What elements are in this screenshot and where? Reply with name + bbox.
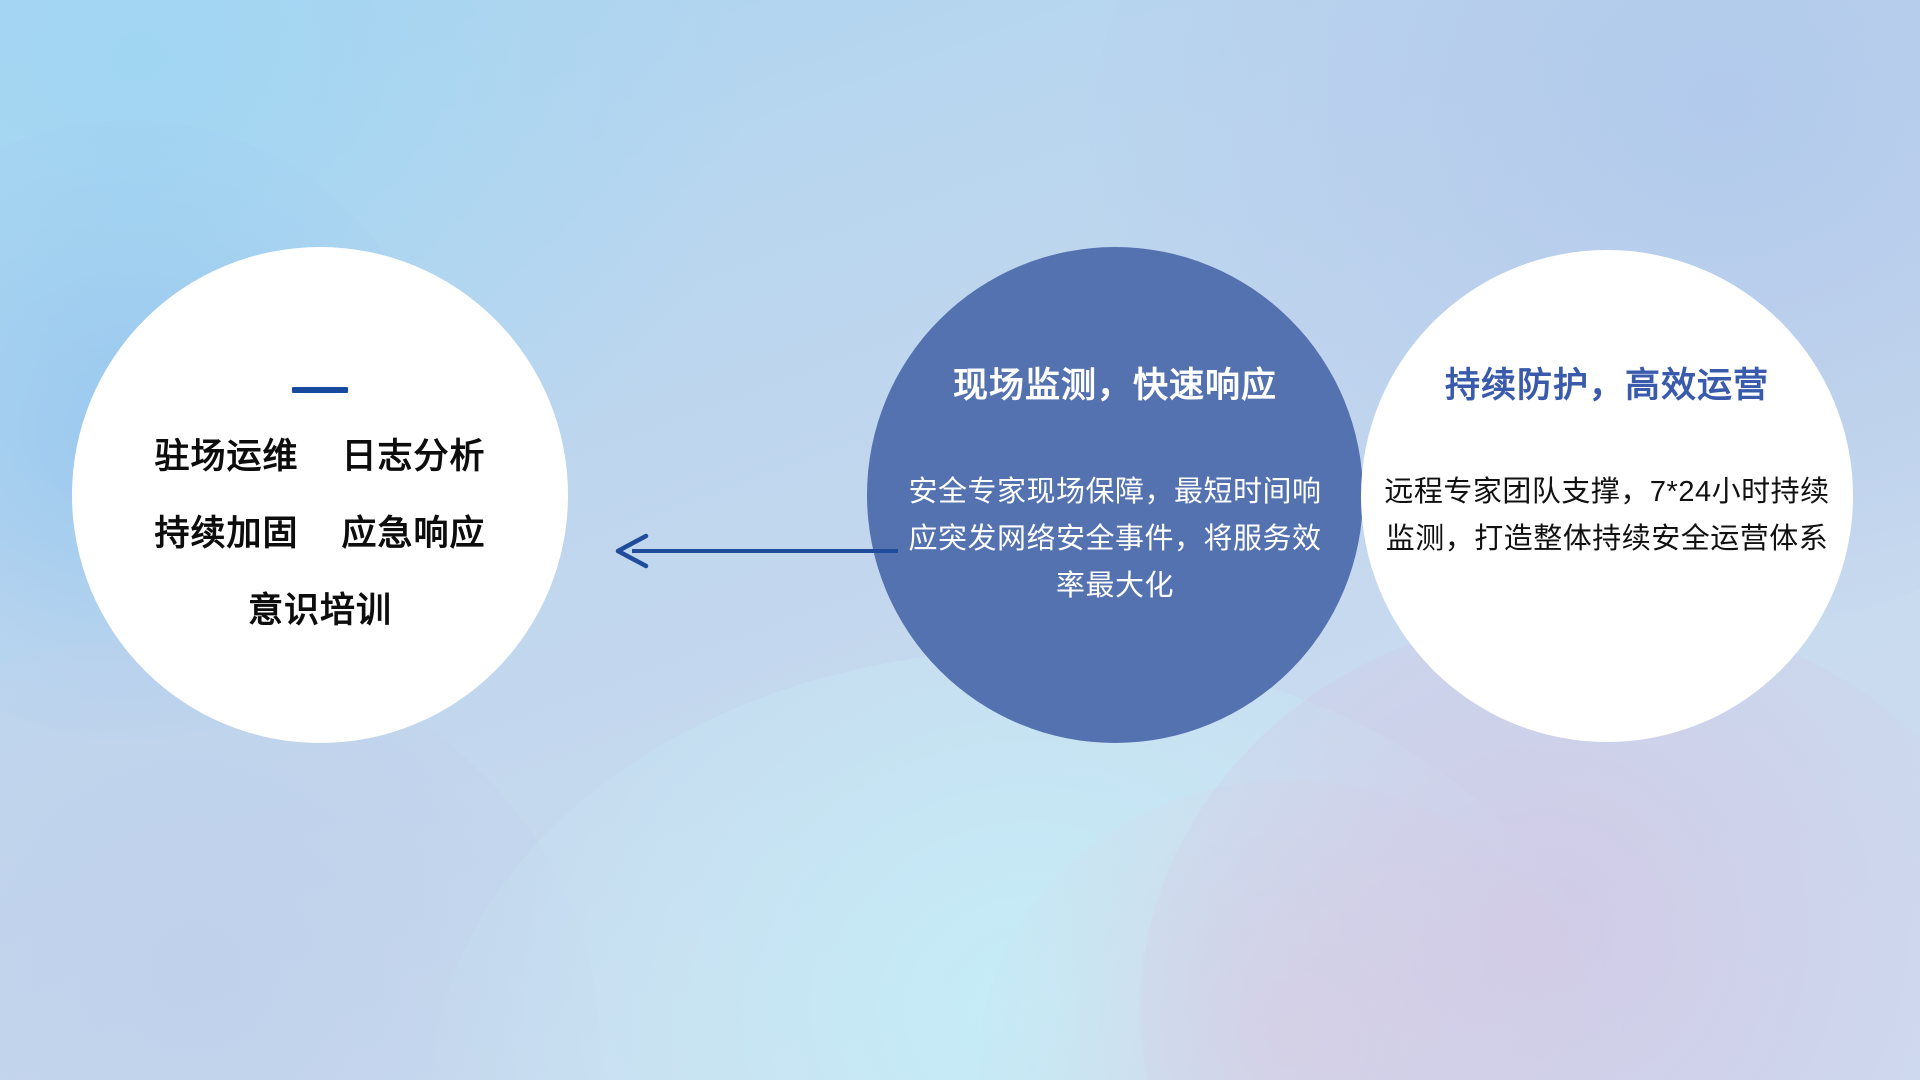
onsite-body: 安全专家现场保障，最短时间响应突发网络安全事件，将服务效率最大化 — [891, 469, 1339, 610]
capability-line-1: 驻场运维 日志分析 — [72, 439, 568, 474]
slide-canvas: 驻场运维 日志分析 持续加固 应急响应 意识培训 现场监测，快速响应 安全专家现… — [0, 0, 1920, 1080]
capability-line-2: 持续加固 应急响应 — [72, 516, 568, 551]
remote-body: 远程专家团队支撑，7*24小时持续监测，打造整体持续安全运营体系 — [1375, 469, 1839, 563]
capabilities-circle[interactable]: 驻场运维 日志分析 持续加固 应急响应 意识培训 — [72, 247, 568, 743]
capabilities-content: 驻场运维 日志分析 持续加固 应急响应 意识培训 — [72, 387, 568, 628]
accent-dash-icon — [292, 387, 348, 393]
flow-arrow-left-icon — [610, 520, 900, 582]
onsite-content: 现场监测，快速响应 安全专家现场保障，最短时间响应突发网络安全事件，将服务效率最… — [891, 365, 1339, 610]
remote-content: 持续防护，高效运营 远程专家团队支撑，7*24小时持续监测，打造整体持续安全运营… — [1375, 365, 1839, 563]
capability-line-3: 意识培训 — [72, 593, 568, 628]
onsite-circle[interactable]: 现场监测，快速响应 安全专家现场保障，最短时间响应突发网络安全事件，将服务效率最… — [867, 247, 1363, 743]
remote-title: 持续防护，高效运营 — [1375, 365, 1839, 407]
onsite-title: 现场监测，快速响应 — [891, 365, 1339, 407]
remote-circle[interactable]: 持续防护，高效运营 远程专家团队支撑，7*24小时持续监测，打造整体持续安全运营… — [1361, 250, 1853, 742]
